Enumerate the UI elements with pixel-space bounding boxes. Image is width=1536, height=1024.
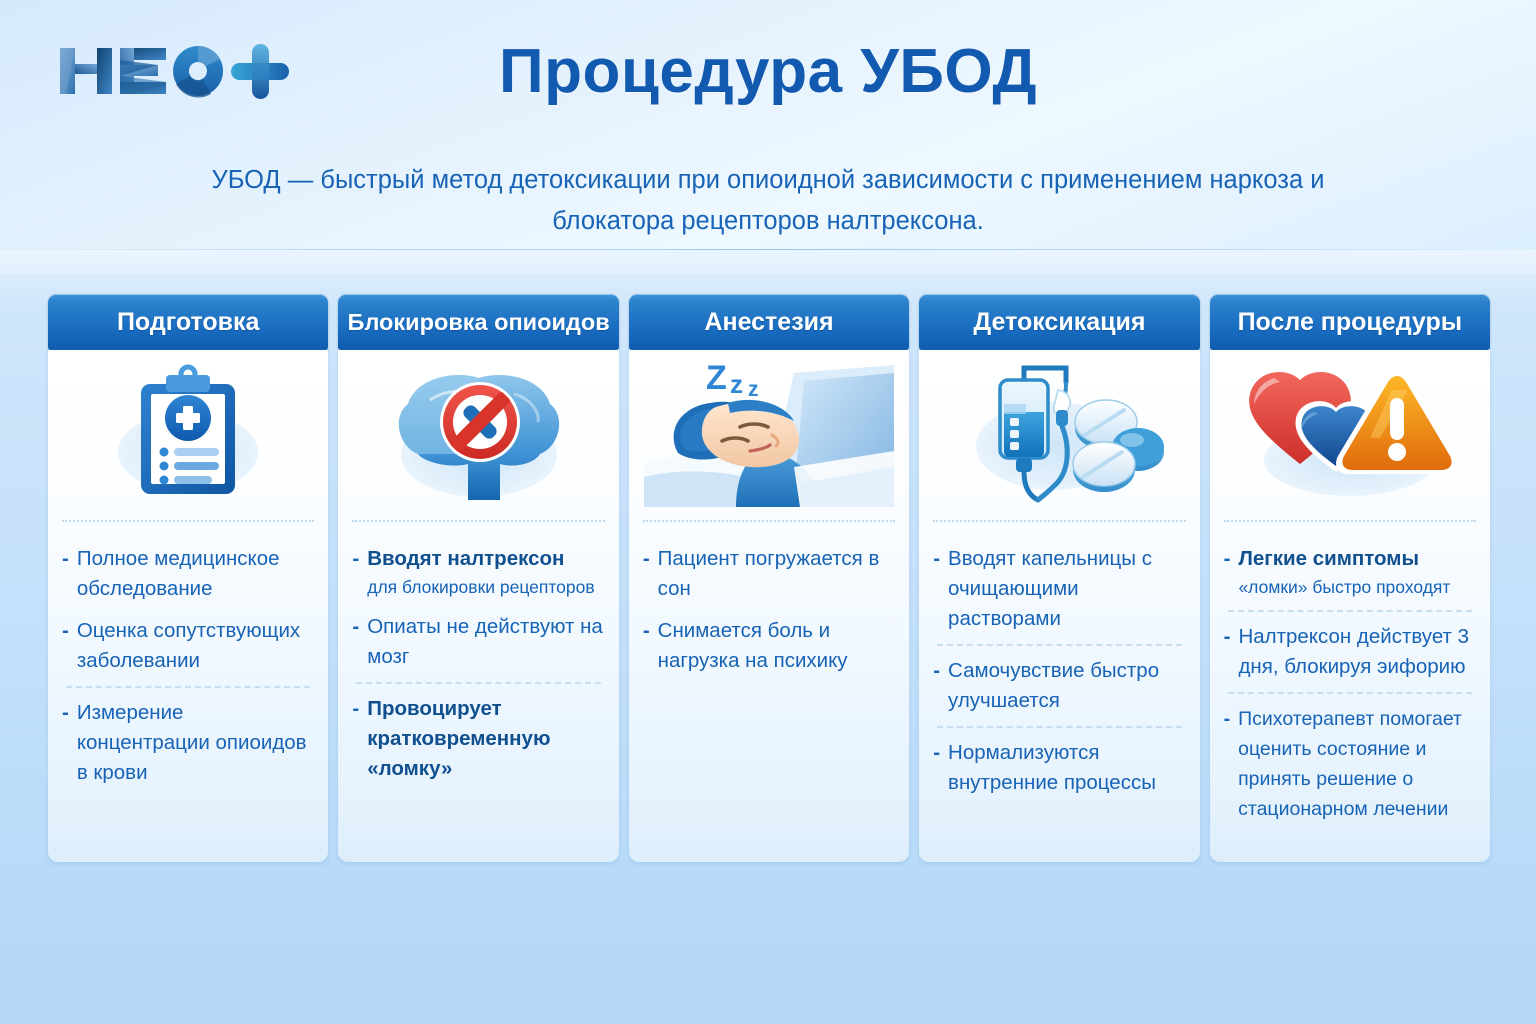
bullet-dash: - (933, 738, 948, 798)
list-item: - Провоцирует кратковременную «ломку» (352, 688, 604, 790)
card-podgotovka[interactable]: Подготовка (48, 294, 328, 862)
bullet-text: Самочувствие быстро улучшается (948, 659, 1159, 712)
bullet-divider (1228, 610, 1472, 612)
bullet-dash: - (62, 698, 77, 788)
card-body-posle-procedury: - Легкие симптомы «ломки» быстро проходя… (1210, 350, 1490, 862)
bullet-text: Налтрексон действует 3 дня, блокируя эиф… (1238, 625, 1469, 678)
bullet-dash: - (62, 616, 77, 676)
bullet-text: Психотерапевт помогает оценить состояние… (1238, 708, 1462, 820)
card-title-podgotovka: Подготовка (48, 294, 328, 350)
bullet-dash: - (1224, 622, 1239, 682)
bullet-dash: - (933, 656, 948, 716)
list-item: - Оценка сопутствующих заболевании (62, 610, 314, 682)
bullet-list-anesteziya: - Пациент погружается в сон - Снимается … (629, 522, 909, 682)
bullet-text: Снимается боль и нагрузка на психику (658, 619, 848, 672)
bullet-list-detoksikaciya: - Вводят капельницы с очищающими раствор… (919, 522, 1199, 804)
bullet-list-posle-procedury: - Легкие симптомы «ломки» быстро проходя… (1210, 522, 1490, 830)
page-subtitle: УБОД — быстрый метод детоксикации при оп… (168, 160, 1368, 242)
list-item: - Опиаты не действуют на мозг (352, 606, 604, 678)
list-item: - Налтрексон действует 3 дня, блокируя э… (1224, 616, 1476, 688)
bullet-list-blokirovka-opioidov: - Вводят налтрексон для блокировки рецеп… (338, 522, 618, 790)
bullet-divider (356, 682, 600, 684)
list-item: - Измерение концентрации опиоидов в кров… (62, 692, 314, 794)
bullet-subtext: «ломки» быстро проходят (1238, 574, 1476, 600)
bullet-divider (1228, 692, 1472, 694)
bullet-subtext: для блокировки рецепторов (367, 574, 605, 600)
card-title-posle-procedury: После процедуры (1210, 294, 1490, 350)
card-anesteziya[interactable]: Анестезия (629, 294, 909, 862)
svg-text:z: z (748, 378, 759, 401)
bullet-dash: - (352, 544, 367, 600)
bullet-text: Легкие симптомы (1238, 547, 1419, 570)
card-body-blokirovka-opioidov: - Вводят налтрексон для блокировки рецеп… (338, 350, 618, 862)
zzz-text: Z (706, 359, 727, 397)
bullet-text: Полное медицинское обследование (77, 547, 280, 600)
hearts-warning-icon (1210, 350, 1490, 520)
clipboard-medical-icon (48, 350, 328, 520)
card-title-detoksikaciya: Детоксикация (919, 294, 1199, 350)
list-item: - Самочувствие быстро улучшается (933, 650, 1185, 722)
list-item: - Нормализуются внутренние процессы (933, 732, 1185, 804)
sleeping-patient-icon: Z z z (629, 350, 909, 520)
card-title-blokirovka-opioidov: Блокировка опиоидов (338, 294, 618, 350)
bullet-divider (937, 726, 1181, 728)
bullet-text: Пациент погружается в сон (658, 547, 880, 600)
bullet-dash: - (62, 544, 77, 604)
bullet-list-podgotovka: - Полное медицинское обследование - Оцен… (48, 522, 328, 794)
card-body-podgotovka: - Полное медицинское обследование - Оцен… (48, 350, 328, 862)
list-item: - Полное медицинское обследование (62, 538, 314, 610)
bullet-divider (66, 686, 310, 688)
list-item: - Вводят налтрексон для блокировки рецеп… (352, 538, 604, 606)
list-item: - Снимается боль и нагрузка на психику (643, 610, 895, 682)
brain-blocked-icon (338, 350, 618, 520)
list-item: - Вводят капельницы с очищающими раствор… (933, 538, 1185, 640)
card-body-anesteziya: Z z z - Пациент погружается в сон - Сним… (629, 350, 909, 862)
bullet-dash: - (352, 694, 367, 784)
card-body-detoksikaciya: - Вводят капельницы с очищающими раствор… (919, 350, 1199, 862)
card-posle-procedury[interactable]: После процедуры (1210, 294, 1490, 862)
bullet-dash: - (643, 616, 658, 676)
card-blokirovka-opioidov[interactable]: Блокировка опиоидов (338, 294, 618, 862)
svg-text:z: z (730, 369, 743, 399)
bullet-text: Провоцирует кратковременную «ломку» (367, 697, 550, 780)
bullet-dash: - (933, 544, 948, 634)
bullet-divider (937, 644, 1181, 646)
bullet-dash: - (1224, 704, 1239, 824)
bullet-dash: - (1224, 544, 1239, 600)
bullet-text: Вводят налтрексон (367, 547, 564, 570)
bullet-text: Оценка сопутствующих заболевании (77, 619, 300, 672)
header-sub-band (0, 250, 1536, 274)
list-item: - Легкие симптомы «ломки» быстро проходя… (1224, 538, 1476, 606)
iv-drip-pills-icon (919, 350, 1199, 520)
bullet-text: Нормализуются внутренние процессы (948, 741, 1156, 794)
cards-row: Подготовка (48, 294, 1490, 862)
card-detoksikaciya[interactable]: Детоксикация (919, 294, 1199, 862)
bullet-text: Опиаты не действуют на мозг (367, 615, 603, 668)
card-title-anesteziya: Анестезия (629, 294, 909, 350)
bullet-text: Измерение концентрации опиоидов в крови (77, 701, 307, 784)
bullet-dash: - (643, 544, 658, 604)
list-item: - Психотерапевт помогает оценить состоян… (1224, 698, 1476, 830)
page-title: Процедура УБОД (0, 36, 1536, 107)
bullet-dash: - (352, 612, 367, 672)
bullet-text: Вводят капельницы с очищающими растворам… (948, 547, 1152, 630)
list-item: - Пациент погружается в сон (643, 538, 895, 610)
